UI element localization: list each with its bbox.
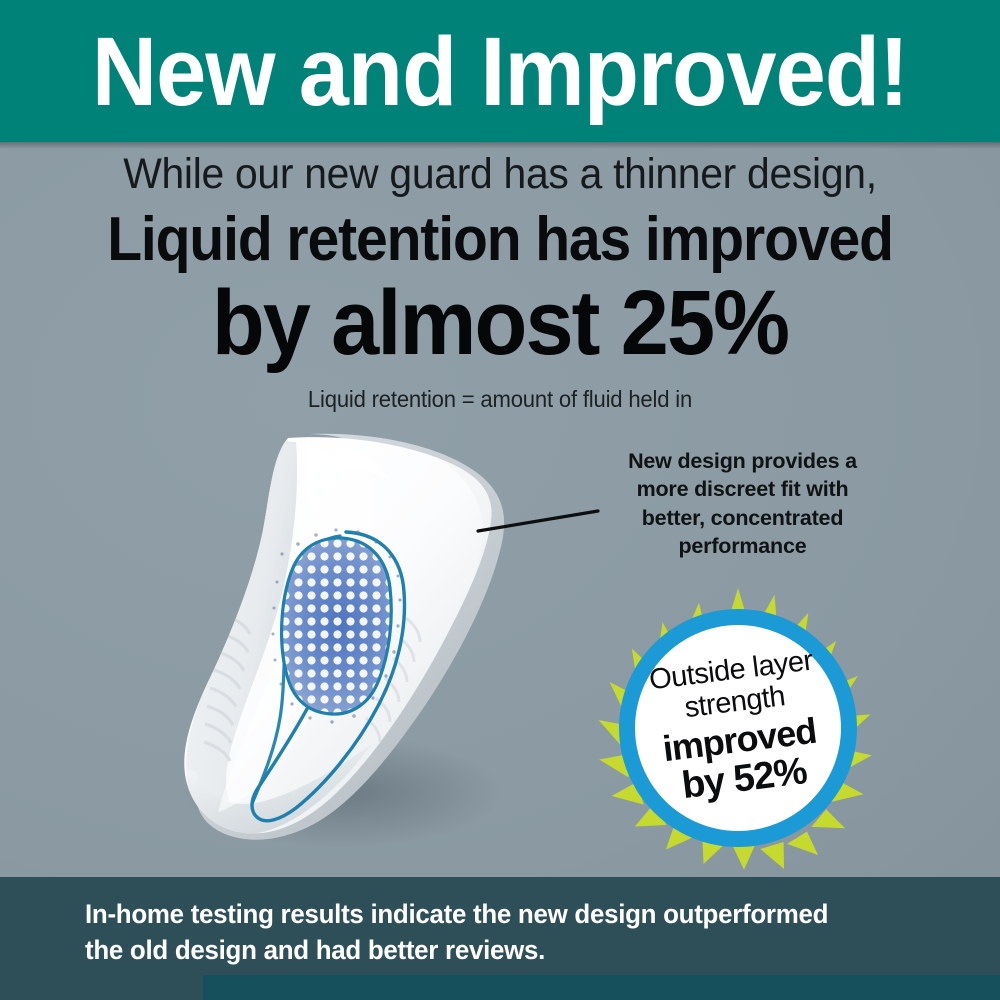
header-drop-shadow (0, 142, 1000, 149)
badge-text-group: Outside layer strength improved by 52% (580, 570, 896, 886)
footer-accent-strip (203, 975, 1000, 1000)
footer-text: In-home testing results indicate the new… (85, 897, 901, 968)
footer-line-2: the old design and had better reviews. (85, 933, 901, 969)
callout-line-2: more discreet fit with (585, 475, 900, 503)
header-title: New and Improved! (35, 0, 965, 142)
headline-definition-note: Liquid retention = amount of fluid held … (20, 387, 980, 412)
callout-line-4: performance (585, 532, 900, 560)
headline-block: While our new guard has a thinner design… (0, 152, 1000, 412)
callout-line-1: New design provides a (585, 447, 900, 475)
product-illustration (110, 420, 530, 850)
footer-line-1: In-home testing results indicate the new… (85, 897, 901, 933)
headline-primary-line: Liquid retention has improved (40, 209, 960, 271)
callout-text: New design provides a more discreet fit … (585, 447, 900, 561)
starburst-badge: Outside layer strength improved by 52% (596, 586, 880, 870)
callout-line-3: better, concentrated (585, 504, 900, 532)
headline-statistic-line: by almost 25% (30, 277, 970, 369)
infographic-poster: New and Improved! While our new guard ha… (0, 0, 1000, 1000)
headline-intro-line: While our new guard has a thinner design… (25, 152, 975, 197)
